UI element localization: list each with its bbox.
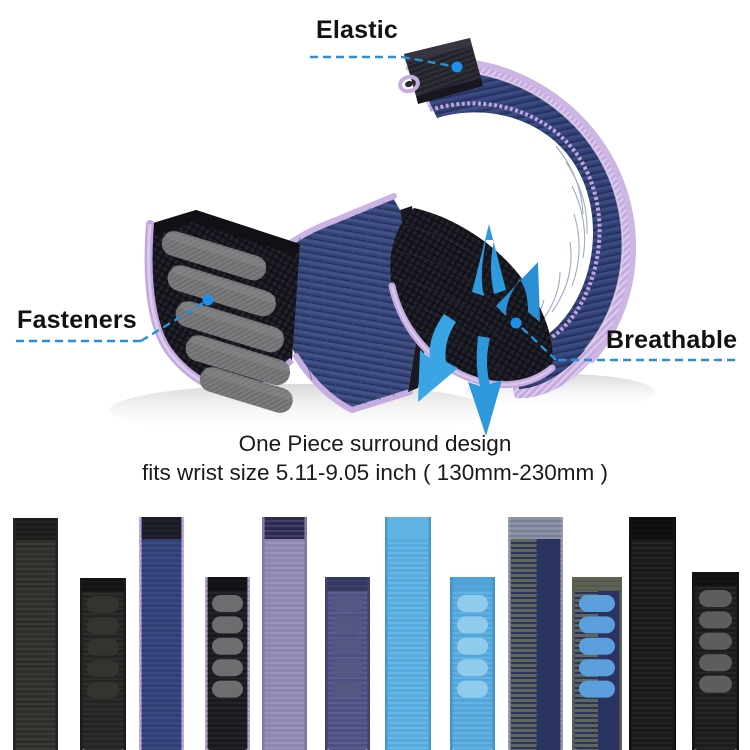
fastener-pad [457, 681, 488, 698]
strap-edge-binding [560, 517, 563, 750]
strap-graphic [692, 572, 739, 750]
strap-edge-binding [428, 517, 431, 750]
strap-graphic [325, 577, 370, 750]
fastener-pad [332, 638, 363, 655]
fastener-pad [579, 595, 615, 612]
strap-edge-binding [13, 518, 16, 750]
fastener-pad [579, 659, 615, 676]
fastener-pad [87, 596, 119, 613]
strap-body [13, 518, 58, 750]
strap-graphic [262, 517, 307, 750]
strap-second-tone [537, 517, 563, 750]
strap-edge-binding [80, 578, 83, 750]
fastener-section [149, 210, 300, 416]
strap-edge-binding [673, 517, 676, 750]
strap-graphic [80, 578, 126, 750]
strap-graphic [572, 577, 622, 750]
fastener-pad [332, 681, 363, 698]
strap-fastener-pads [457, 595, 488, 698]
strap-edge-binding [508, 517, 511, 750]
color-swatch-navy-front[interactable] [139, 517, 184, 750]
fastener-pad [212, 638, 243, 655]
fastener-pad [87, 682, 119, 699]
fastener-pad [457, 659, 488, 676]
strap-end-tab [325, 577, 370, 591]
strap-edge-binding [181, 517, 184, 750]
hero-product-illustration: Elastic Fasteners Breathable [0, 0, 750, 495]
fastener-pad [579, 681, 615, 698]
product-feature-image: Elastic Fasteners Breathable One Piece s… [0, 0, 750, 750]
strap-body [262, 517, 307, 750]
fastener-pad [212, 659, 243, 676]
fastener-pad [87, 639, 119, 656]
color-variant-strip [0, 495, 750, 750]
color-swatch-lavender-front[interactable] [262, 517, 307, 750]
color-swatch-light-blue-front[interactable] [385, 517, 431, 750]
strap-graphic [629, 517, 676, 750]
strap-body [629, 517, 676, 750]
callout-label-fasteners: Fasteners [17, 306, 137, 335]
fastener-pad [332, 659, 363, 676]
strap-graphic [385, 517, 431, 750]
callout-dot-fasteners [203, 295, 214, 306]
callout-label-breathable: Breathable [606, 326, 737, 355]
strap-graphic [13, 518, 58, 750]
strap-edge-binding [55, 518, 58, 750]
fastener-pad [212, 616, 243, 633]
strap-fastener-pads [579, 595, 615, 698]
strap-end-tab [450, 577, 495, 591]
strap-edge-binding [572, 577, 575, 750]
product-caption: One Piece surround design fits wrist siz… [0, 430, 750, 487]
strap-end-tab [80, 578, 126, 592]
strap-fastener-pads [212, 595, 243, 698]
fastener-pad [457, 595, 488, 612]
fastener-pad [332, 595, 363, 612]
strap-edge-binding [247, 577, 250, 750]
fastener-pad [699, 633, 732, 650]
strap-edge-binding [304, 517, 307, 750]
strap-graphic [450, 577, 495, 750]
strap-fastener-pads [87, 596, 119, 699]
strap-fastener-pads [332, 595, 363, 698]
strap-graphic [205, 577, 250, 750]
strap-end-tab [205, 577, 250, 591]
strap-edge-binding [450, 577, 453, 750]
callout-dot-elastic [452, 62, 463, 73]
strap-fastener-pads [699, 590, 732, 693]
strap-edge-binding [385, 517, 388, 750]
fastener-pad [332, 616, 363, 633]
color-swatch-olive-navy-back[interactable] [572, 577, 622, 750]
strap-edge-binding [325, 577, 328, 750]
fastener-pad [579, 638, 615, 655]
color-swatch-light-blue-back[interactable] [450, 577, 495, 750]
fastener-pad [212, 595, 243, 612]
fastener-pad [699, 654, 732, 671]
color-swatch-olive-navy-front[interactable] [508, 517, 563, 750]
caption-line-2: fits wrist size 5.11-9.05 inch ( 130mm-2… [0, 458, 750, 487]
strap-edge-binding [367, 577, 370, 750]
fastener-pad [212, 681, 243, 698]
strap-end-tab [572, 577, 622, 591]
strap-body [139, 517, 184, 750]
strap-graphic [139, 517, 184, 750]
caption-line-1: One Piece surround design [0, 430, 750, 458]
color-swatch-black-textured-back[interactable] [692, 572, 739, 750]
fastener-pad [699, 590, 732, 607]
fastener-pad [87, 617, 119, 634]
watch-band-illustration [0, 0, 750, 495]
callout-label-elastic: Elastic [316, 16, 398, 45]
fastener-pad [699, 611, 732, 628]
strap-edge-binding [619, 577, 622, 750]
fastener-pad [579, 616, 615, 633]
callout-dot-breathable [511, 318, 522, 329]
strap-edge-binding [262, 517, 265, 750]
strap-edge-binding [139, 517, 142, 750]
strap-body [385, 517, 431, 750]
strap-end-tab [692, 572, 739, 586]
fastener-pad [457, 616, 488, 633]
strap-edge-binding [629, 517, 632, 750]
strap-edge-binding [123, 578, 126, 750]
fastener-pad [457, 638, 488, 655]
color-swatch-black-back[interactable] [80, 578, 126, 750]
color-swatch-black-front[interactable] [13, 518, 58, 750]
strap-graphic [508, 517, 563, 750]
color-swatch-lavender-back[interactable] [325, 577, 370, 750]
drop-shadow [110, 384, 490, 436]
strap-edge-binding [205, 577, 208, 750]
color-swatch-black-textured-front[interactable] [629, 517, 676, 750]
fastener-pad [699, 676, 732, 693]
strap-edge-binding [492, 577, 495, 750]
fastener-pad [87, 660, 119, 677]
color-swatch-navy-back[interactable] [205, 577, 250, 750]
